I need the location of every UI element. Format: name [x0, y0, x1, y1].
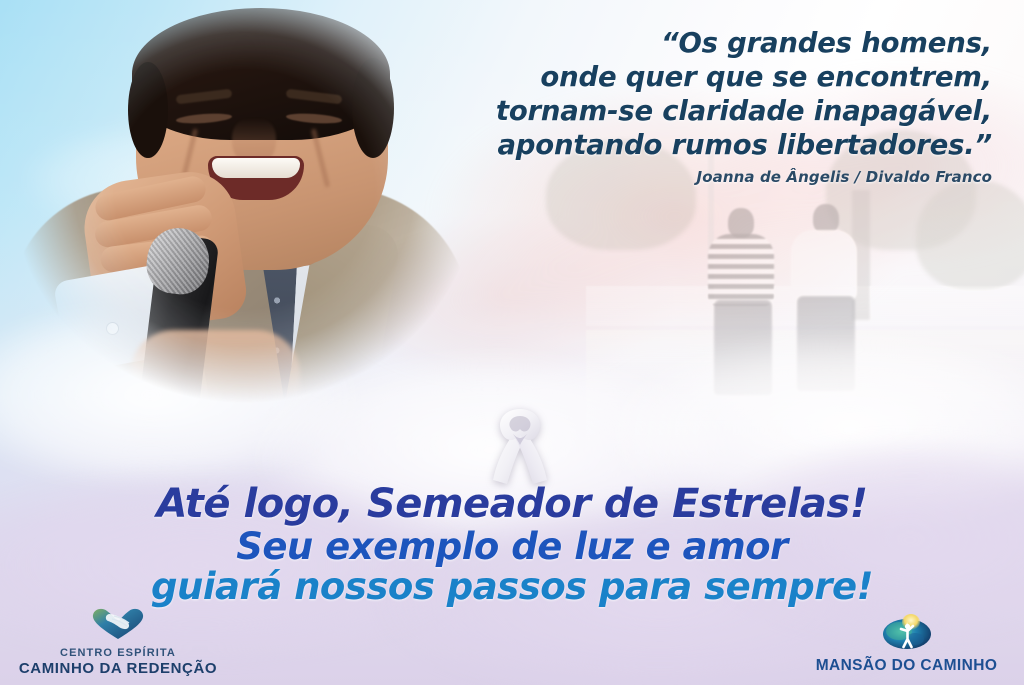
quote-line-3: tornam-se claridade inapagável, [440, 94, 992, 128]
portrait-divaldo-franco [0, 0, 470, 430]
quote-line-4: apontando rumos libertadores.” [440, 128, 992, 162]
logo-centro-espirita[interactable]: CENTRO ESPÍRITA CAMINHO DA REDENÇÃO [8, 606, 228, 677]
logo-mansao-do-caminho[interactable]: MANSÃO DO CAMINHO [799, 614, 1014, 675]
memorial-poster: “Os grandes homens, onde quer que se enc… [0, 0, 1024, 685]
logo-left-line-2: CAMINHO DA REDENÇÃO [8, 660, 228, 677]
headline-line-3: guiará nossos passos para sempre! [0, 568, 1024, 606]
portrait-hair-side [128, 62, 168, 158]
quote-line-1: “Os grandes homens, [440, 26, 992, 60]
heart-hands-icon [8, 606, 228, 645]
quote-attribution: Joanna de Ângelis / Divaldo Franco [440, 168, 992, 186]
background-scene-photo [586, 150, 1024, 450]
portrait-cuff-button [106, 322, 119, 335]
quote-text: “Os grandes homens, onde quer que se enc… [440, 26, 992, 162]
portrait-lower-hand [130, 330, 300, 440]
logo-right-line-1: MANSÃO DO CAMINHO [799, 657, 1014, 675]
portrait-teeth [212, 158, 300, 178]
quote-line-2: onde quer que se encontrem, [440, 60, 992, 94]
headline-line-1: Até logo, Semeador de Estrelas! [0, 484, 1024, 526]
portrait-hair-side [352, 58, 394, 158]
headline-line-2: Seu exemplo de luz e amor [0, 528, 1024, 566]
logo-left-line-1: CENTRO ESPÍRITA [8, 647, 228, 660]
scene-tree [916, 180, 1024, 290]
headline-block: Até logo, Semeador de Estrelas! Seu exem… [0, 484, 1024, 607]
white-ribbon-icon [477, 404, 563, 488]
globe-figure-torch-icon [799, 614, 1014, 655]
